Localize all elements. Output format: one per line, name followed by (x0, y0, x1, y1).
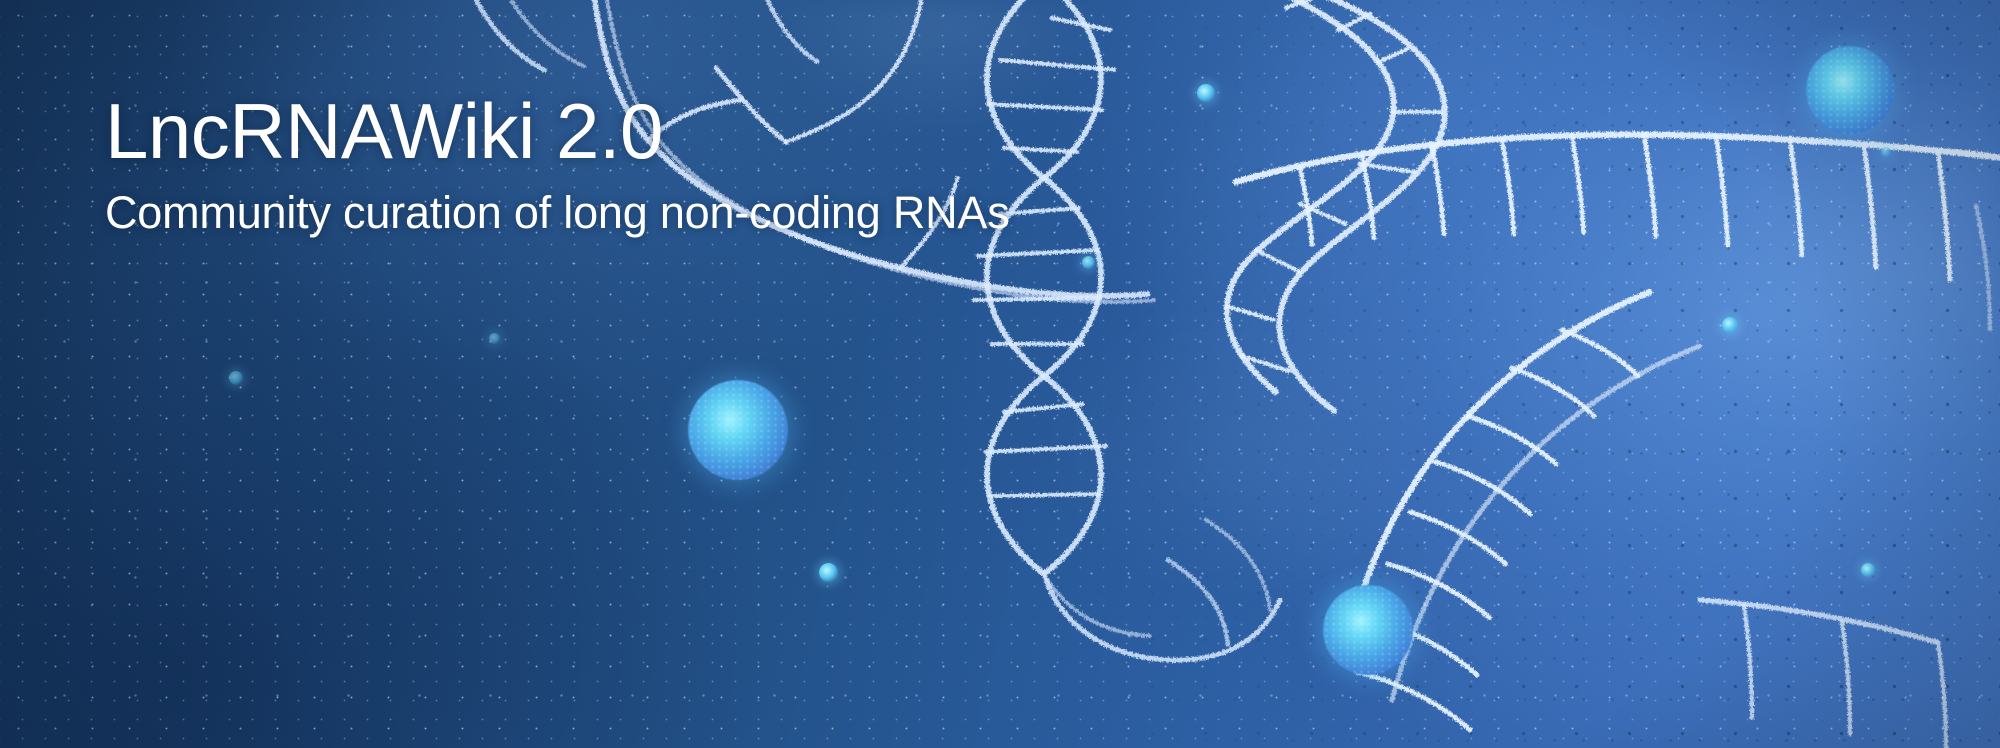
page-subtitle: Community curation of long non-coding RN… (105, 190, 1010, 235)
page-title: LncRNAWiki 2.0 (105, 92, 1010, 170)
hero-text-block: LncRNAWiki 2.0 Community curation of lon… (105, 92, 1010, 235)
hero-banner: LncRNAWiki 2.0 Community curation of lon… (0, 0, 2000, 748)
